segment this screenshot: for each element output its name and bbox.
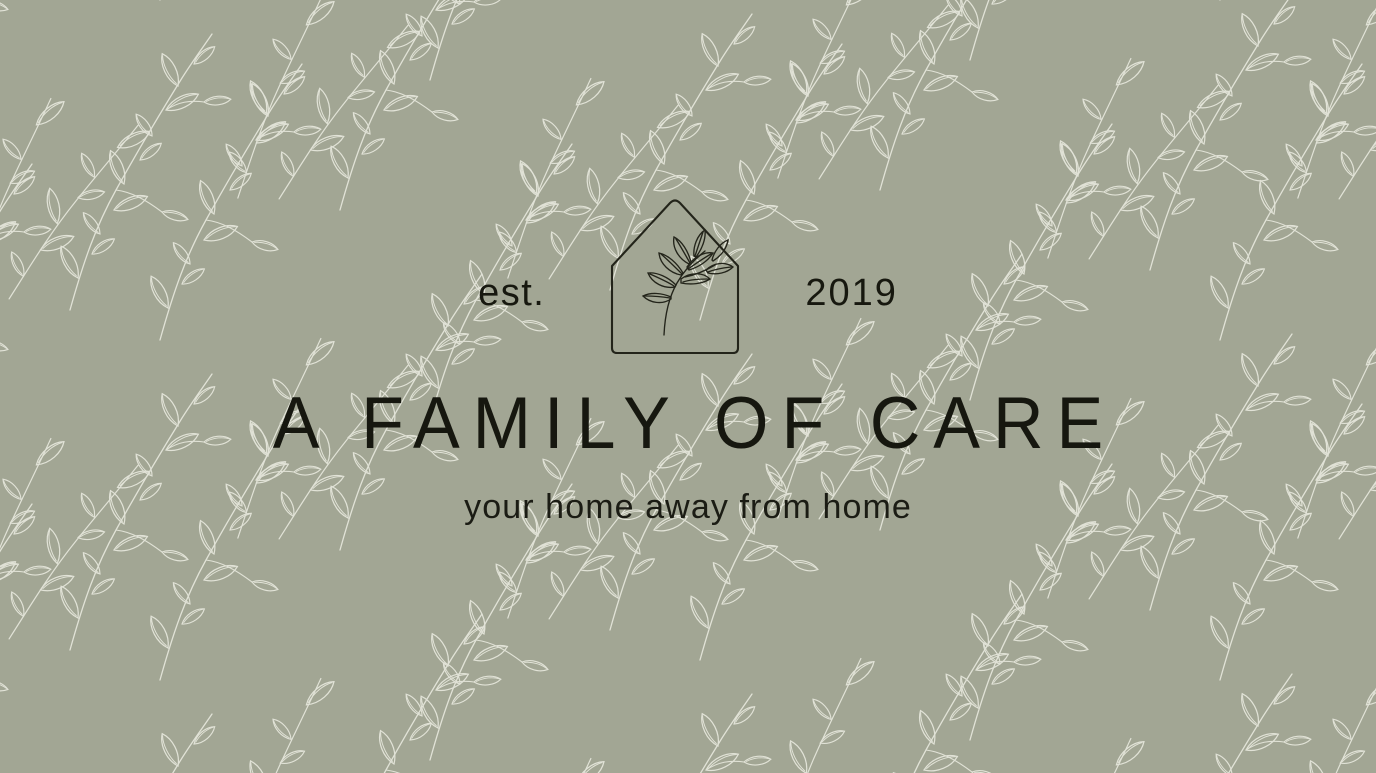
emblem-row: est. (0, 193, 1376, 357)
brand-title-wrap: A FAMILY OF CARE (0, 387, 1376, 461)
brand-lockup: est. (0, 0, 1376, 773)
established-year: 2019 (805, 274, 898, 312)
established-label: est. (478, 274, 545, 312)
brand-tagline-wrap: your home away from home (0, 489, 1376, 526)
brand-banner: est. (0, 0, 1376, 773)
brand-title: A FAMILY OF CARE (260, 387, 1116, 461)
brand-tagline: your home away from home (464, 489, 912, 526)
house-with-botanical-branch-icon (607, 193, 743, 357)
